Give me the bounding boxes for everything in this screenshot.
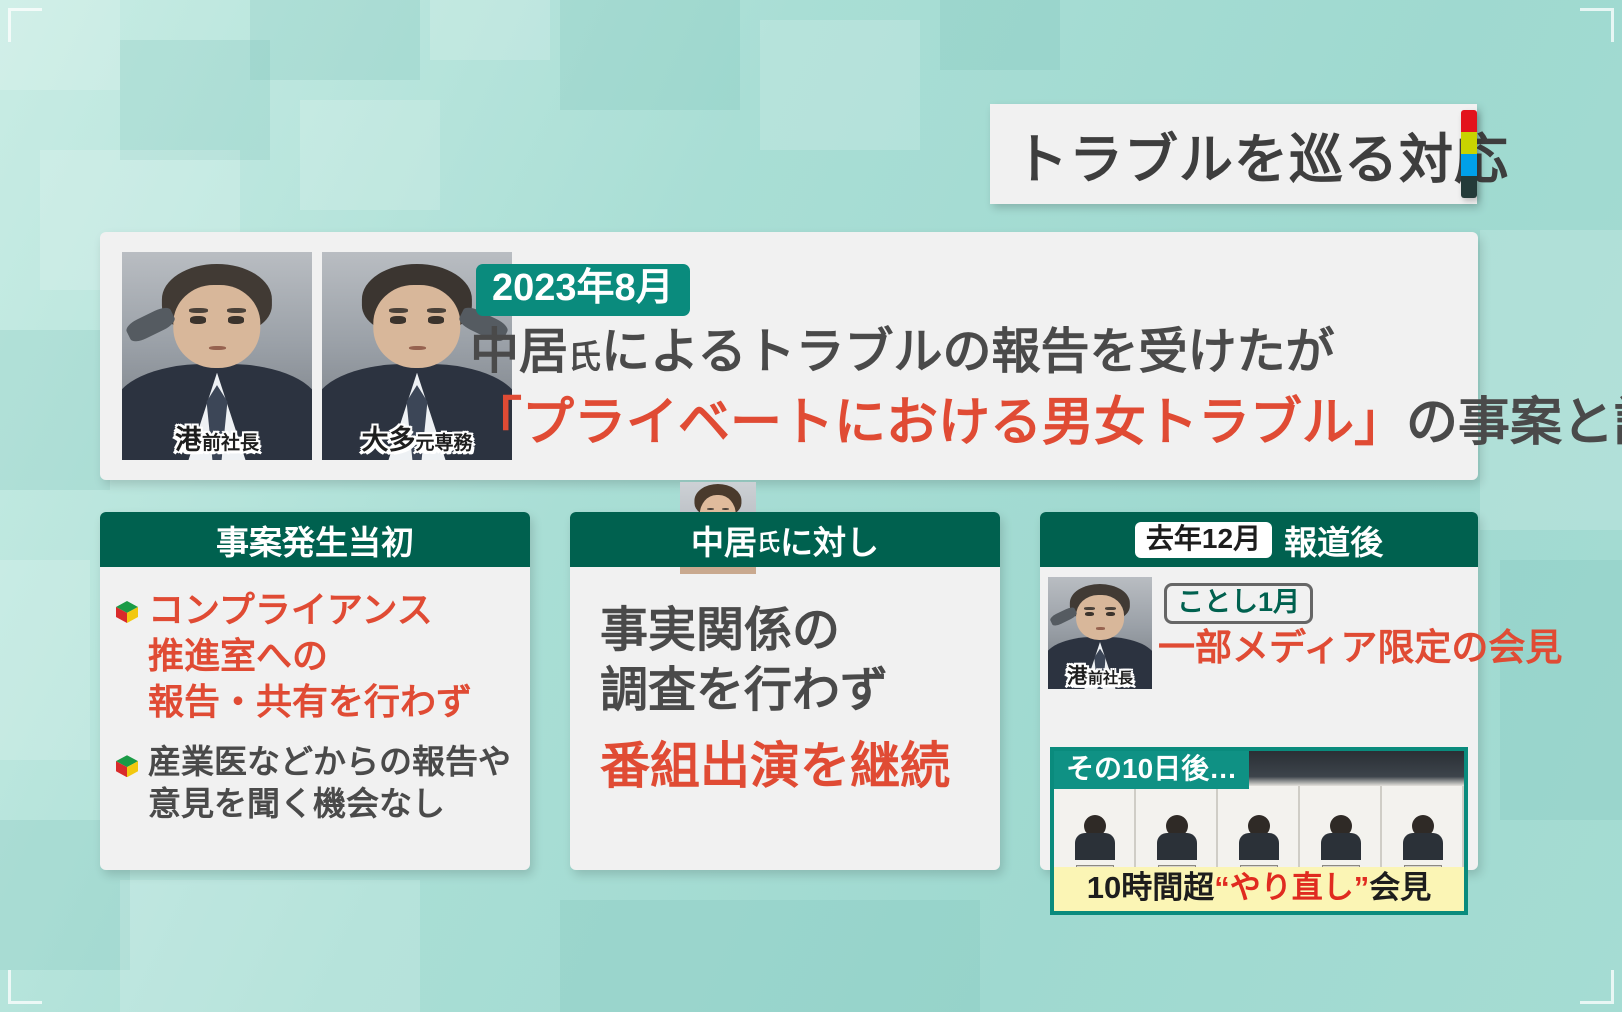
color-swatch-yellow <box>1461 132 1477 154</box>
person-body <box>1075 833 1115 860</box>
bg-tile <box>560 0 740 110</box>
card-mid-header-honorific: 氏 <box>757 523 780 557</box>
eye-left <box>190 316 205 323</box>
person-body <box>1239 833 1279 860</box>
card-after-report: 去年12月 報道後 港前社長 ことし1月 一部メディア限定の会見 <box>1040 512 1478 870</box>
right-highlight-text: 一部メディア限定の会見 <box>1158 629 1562 666</box>
eyebrow-right <box>722 508 730 510</box>
photo-caption: 港前社長 <box>175 427 259 454</box>
list-item-text: コンプライアンス 推進室への 報告・共有を行わず <box>148 587 472 725</box>
card-right-header-chip: 去年12月 <box>1135 522 1272 558</box>
frame-corner-bottom-right <box>1580 970 1614 1004</box>
eyebrow-right <box>227 308 246 313</box>
seated-person <box>1155 815 1199 860</box>
seated-executives <box>1054 815 1464 860</box>
seated-person <box>1073 815 1117 860</box>
card-left-header-label: 事案発生当初 <box>216 516 414 564</box>
card-left-body: コンプライアンス 推進室への 報告・共有を行わず 産業医などからの報告や 意見を… <box>100 567 530 826</box>
bg-tile <box>250 0 420 80</box>
card-mid-header-rest: に対し <box>780 516 879 564</box>
bullet-line: 産業医などからの報告や <box>148 741 511 783</box>
microphone-icon <box>124 305 178 345</box>
photo-caption: 港前社長 <box>1067 666 1133 687</box>
main-statement-line-1: 中居氏によるトラブルの報告を受けたが <box>470 326 1335 380</box>
card-mid-header-name: 中居 <box>691 516 757 564</box>
card-right-header-label: 報道後 <box>1284 516 1383 564</box>
bullet-line: 推進室への <box>148 633 472 679</box>
video-caption-pre: 10時間超 <box>1087 870 1214 905</box>
cube-bullet-icon <box>116 755 138 777</box>
title-color-bar <box>1461 110 1477 198</box>
mouth-shape <box>409 346 426 350</box>
portrait-photo-minato: 港前社長 <box>122 252 312 460</box>
seated-person <box>1237 815 1281 860</box>
frame-corner-top-right <box>1580 8 1614 42</box>
photo-caption-title: 前社長 <box>1088 670 1133 687</box>
seated-person <box>1319 815 1363 860</box>
cube-bullet-icon <box>116 601 138 623</box>
person-body <box>1157 833 1197 860</box>
press-conference-video-thumbnail[interactable]: その10日後… 10時間超“やり直し”会見 <box>1050 747 1468 915</box>
eyebrow-right <box>427 308 446 313</box>
bg-tile <box>1500 560 1622 820</box>
frame-corner-bottom-left <box>8 970 42 1004</box>
card-right-body: 港前社長 ことし1月 一部メディア限定の会見 <box>1040 567 1478 575</box>
bullet-line: 意見を聞く機会なし <box>148 783 511 825</box>
photo-caption-name: 大多 <box>361 425 415 455</box>
bullet-line: コンプライアンス <box>148 587 472 633</box>
video-caption-post: 会見 <box>1369 870 1431 905</box>
main-line2-tail: の事案と認識 <box>1406 394 1622 452</box>
face-shape <box>373 285 460 368</box>
list-item: 産業医などからの報告や 意見を聞く機会なし <box>116 741 512 825</box>
eyebrow-left <box>707 508 715 510</box>
eyebrow-left <box>1084 607 1094 609</box>
mouth-shape <box>209 346 226 350</box>
eyebrow-left <box>389 308 408 313</box>
eye-right <box>1106 612 1114 616</box>
main-line1-rest: によるトラブルの報告を受けたが <box>601 325 1335 379</box>
eye-right <box>428 316 443 323</box>
photo-caption-name: 港 <box>1067 665 1088 688</box>
main-line1-name: 中居 <box>470 325 568 379</box>
card-response-to-nakai: 中居氏に対し 事実関係の 調査を行わず 番組出演を継続 <box>570 512 1000 870</box>
list-item-text: 産業医などからの報告や 意見を聞く機会なし <box>148 741 511 825</box>
bg-tile <box>0 560 90 760</box>
photo-caption-name: 港 <box>175 425 202 455</box>
video-caption-highlight: “やり直し” <box>1214 870 1369 905</box>
color-swatch-blue <box>1461 154 1477 176</box>
mouth-shape <box>1096 627 1105 629</box>
main-line2-quote: 「プライベートにおける男女トラブル」 <box>470 394 1406 452</box>
card-mid-header: 中居氏に対し <box>570 512 1000 567</box>
main-statement-line-2: 「プライベートにおける男女トラブル」の事案と認識 <box>470 395 1622 452</box>
bg-tile <box>940 0 1060 70</box>
card-right-header: 去年12月 報道後 <box>1040 512 1478 567</box>
bg-tile <box>120 880 420 1012</box>
person-body <box>1403 833 1443 860</box>
video-time-tag: その10日後… <box>1054 751 1249 789</box>
bg-tile <box>560 900 980 1012</box>
color-swatch-dark <box>1461 176 1477 198</box>
photo-caption-title: 前社長 <box>202 433 259 454</box>
photo-caption: 大多元専務 <box>361 427 472 454</box>
main-line1-honorific: 氏 <box>568 338 601 375</box>
microphone-icon <box>1049 605 1078 627</box>
photo-caption-title: 元専務 <box>415 433 472 454</box>
card-initial-response: 事案発生当初 コンプライアンス 推進室への 報告・共有を行わず 産業医などからの… <box>100 512 530 870</box>
mid-gray-line: 調査を行わず <box>600 661 1000 721</box>
card-mid-body: 事実関係の 調査を行わず 番組出演を継続 <box>570 567 1000 798</box>
frame-corner-top-left <box>8 8 42 42</box>
card-left-header: 事案発生当初 <box>100 512 530 567</box>
mid-gray-line: 事実関係の <box>600 601 1000 661</box>
bg-tile <box>760 20 920 150</box>
bullet-line: 報告・共有を行わず <box>148 679 472 725</box>
date-chip-this-january: ことし1月 <box>1164 583 1313 624</box>
eyebrow-right <box>1105 607 1115 609</box>
person-body <box>1321 833 1361 860</box>
seated-person <box>1401 815 1445 860</box>
eye-left <box>390 316 405 323</box>
bg-tile <box>120 40 270 160</box>
face-shape <box>173 285 260 368</box>
face-shape <box>1076 595 1124 640</box>
page-title: トラブルを巡る対応 <box>1014 115 1509 194</box>
eye-right <box>228 316 243 323</box>
mid-red-line: 番組出演を継続 <box>600 735 1000 798</box>
color-swatch-red <box>1461 110 1477 132</box>
date-badge: 2023年8月 <box>476 264 690 316</box>
bg-tile <box>0 330 110 490</box>
list-item: コンプライアンス 推進室への 報告・共有を行わず <box>116 587 512 725</box>
eyebrow-left <box>189 308 208 313</box>
eye-left <box>1085 612 1093 616</box>
bg-tile <box>430 0 550 60</box>
portrait-photo-minato-small: 港前社長 <box>1048 577 1152 689</box>
video-caption-bar: 10時間超“やり直し”会見 <box>1054 867 1464 911</box>
page-title-bar: トラブルを巡る対応 <box>990 104 1477 204</box>
bg-tile <box>300 100 440 210</box>
bg-tile <box>1480 230 1622 530</box>
